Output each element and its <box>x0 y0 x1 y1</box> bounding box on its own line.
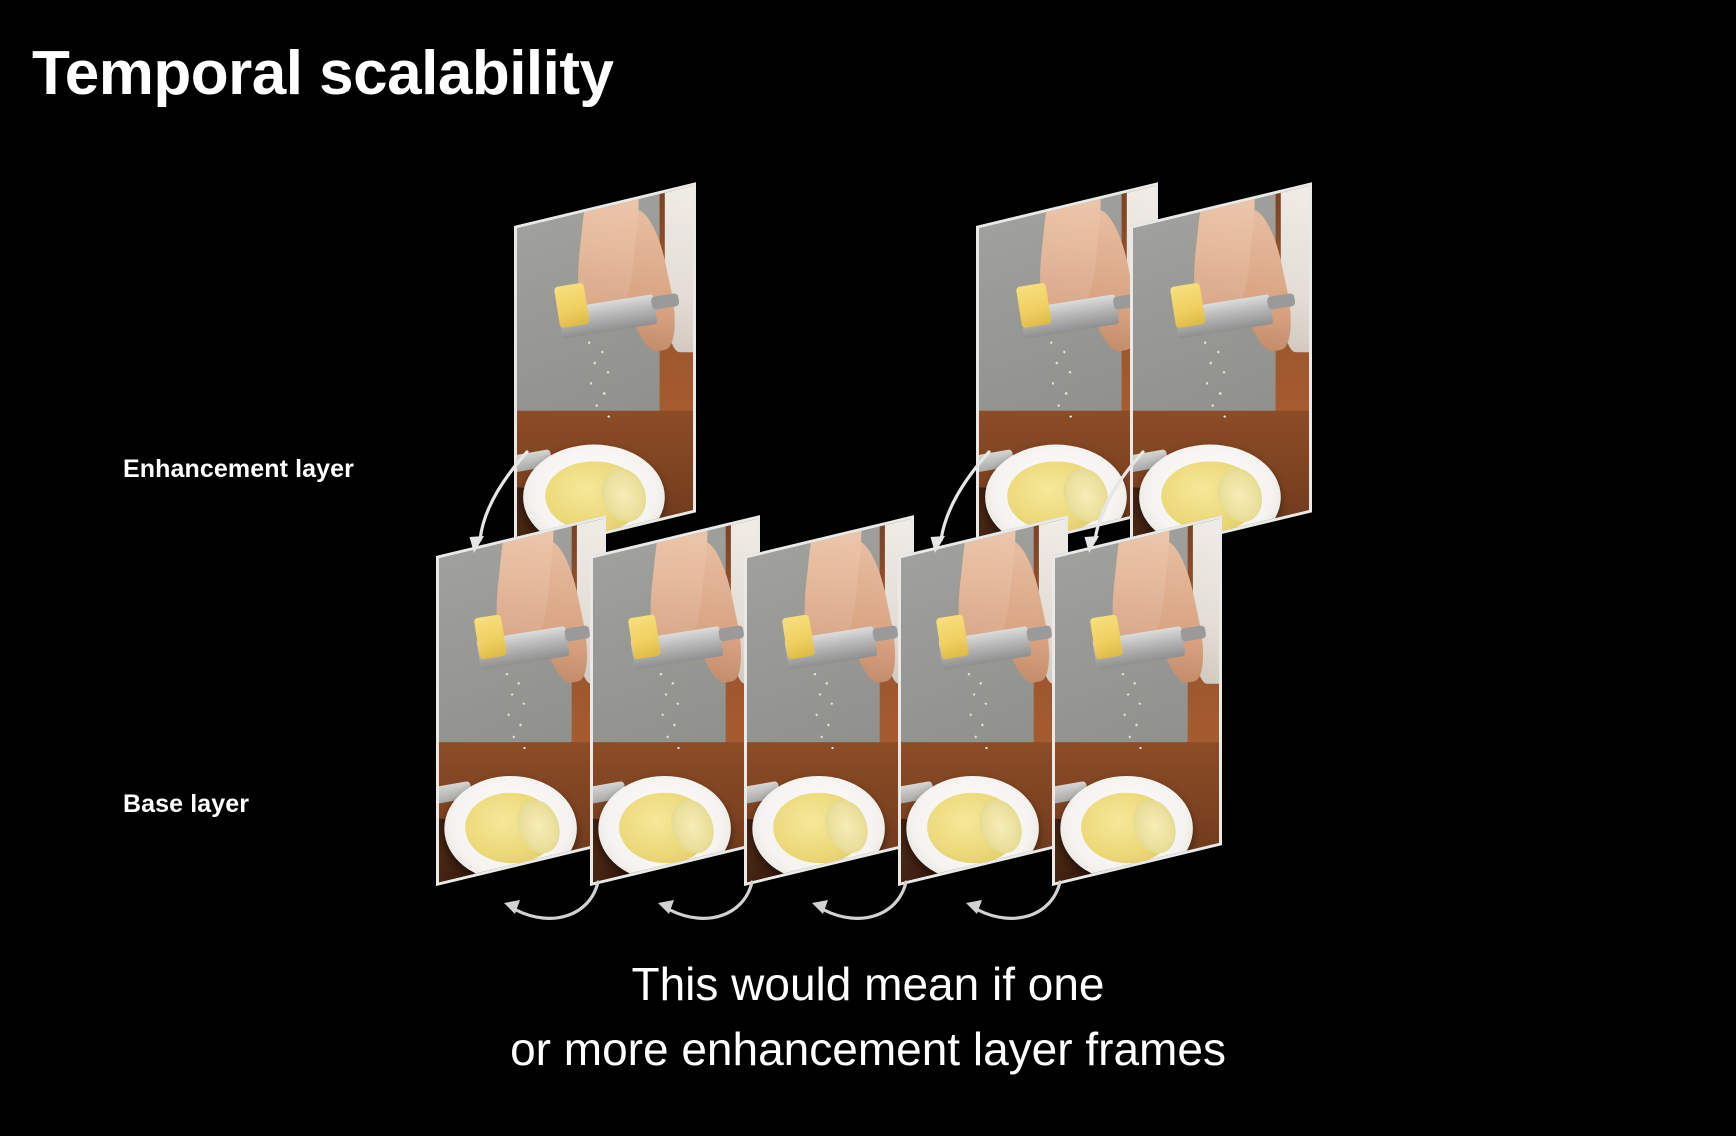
photo-table <box>1130 411 1312 556</box>
photo-second-hand <box>609 206 684 356</box>
photo-table-object <box>744 819 782 886</box>
base-frame-4 <box>898 515 1068 886</box>
photo-grater <box>1093 626 1186 669</box>
photo-hand <box>1189 182 1263 329</box>
frame-photo <box>590 515 760 886</box>
photo-grater <box>785 626 878 669</box>
photo-grater <box>477 626 570 669</box>
base-arrow-3 <box>812 882 906 918</box>
photo-table <box>436 743 606 886</box>
photo-wood-panel <box>572 515 606 759</box>
photo-pasta <box>465 793 555 862</box>
photo-fork <box>1130 449 1169 475</box>
photo-wall <box>976 182 1158 419</box>
caption-block: This would mean if one or more enhanceme… <box>0 952 1736 1083</box>
photo-grater <box>631 626 724 669</box>
photo-fork <box>976 449 1015 475</box>
photo-hand <box>1035 182 1109 329</box>
photo-lemon-whole <box>1303 512 1312 556</box>
enhancement-frame-3 <box>1130 182 1312 556</box>
photo-table <box>514 411 696 556</box>
base-frame-1 <box>436 515 606 886</box>
photo-table-object <box>1052 819 1090 886</box>
photo-table-object <box>436 819 474 886</box>
photo-lemon-slice <box>1126 794 1182 859</box>
base-arrow-1 <box>504 882 598 918</box>
photo-wall <box>1130 182 1312 419</box>
photo-cheese-block <box>781 614 815 660</box>
photo-lemon-whole <box>1149 512 1158 556</box>
photo-table <box>590 743 760 886</box>
photo-table <box>744 743 914 886</box>
photo-wood-panel <box>1122 182 1158 428</box>
photo-wall <box>1052 515 1222 751</box>
photo-plate <box>985 445 1127 550</box>
photo-plate <box>906 776 1038 881</box>
photo-wood-panel <box>1276 182 1312 428</box>
frame-photo <box>436 515 606 886</box>
base-frame-3 <box>744 515 914 886</box>
photo-wall <box>436 515 606 751</box>
base-arrow-4 <box>966 882 1060 918</box>
frame-photo <box>744 515 914 886</box>
photo-table-object <box>590 819 628 886</box>
photo-fork <box>898 781 935 806</box>
photo-table-object <box>898 819 936 886</box>
photo-hand <box>490 515 560 660</box>
enhancement-frame-1 <box>514 182 696 556</box>
photo-shirt <box>664 182 696 352</box>
photo-pasta <box>1007 462 1103 531</box>
photo-grater <box>558 294 658 338</box>
photo-shirt <box>1192 515 1222 684</box>
photo-second-hand <box>524 538 595 687</box>
frame-photo <box>898 515 1068 886</box>
photo-pasta <box>1081 793 1171 862</box>
photo-fork <box>744 781 781 806</box>
photo-fork <box>590 781 627 806</box>
photo-plate <box>444 776 576 881</box>
photo-cheese-block <box>627 614 661 660</box>
enhancement-arrow-2 <box>931 452 990 553</box>
photo-grater <box>1174 294 1274 338</box>
photo-fork <box>436 781 473 806</box>
frame-photo <box>514 182 696 556</box>
photo-plate <box>1060 776 1192 881</box>
photo-pasta <box>1161 462 1257 531</box>
base-frame-5 <box>1052 515 1222 886</box>
photo-wall <box>898 515 1068 751</box>
photo-wood-panel <box>660 182 696 428</box>
enhancement-arrow-3 <box>1085 452 1144 553</box>
photo-shirt <box>1038 515 1068 684</box>
photo-cheese-block <box>1016 283 1052 329</box>
photo-table <box>976 411 1158 556</box>
base-frame-2 <box>590 515 760 886</box>
photo-fork <box>1052 781 1089 806</box>
photo-lemon-slice <box>1210 463 1269 529</box>
photo-hand <box>644 515 714 660</box>
photo-second-hand <box>1071 206 1146 356</box>
photo-cheese-block <box>935 614 969 660</box>
enhancement-arrow-1 <box>470 452 528 553</box>
photo-cheese-block <box>473 614 507 660</box>
photo-cheese-crumbs <box>582 335 619 428</box>
photo-cheese-crumbs <box>1116 667 1150 760</box>
photo-shirt <box>576 515 606 684</box>
photo-shirt <box>730 515 760 684</box>
photo-lemon-slice <box>664 794 720 859</box>
caption-line-1: This would mean if one <box>0 952 1736 1017</box>
photo-pasta <box>619 793 709 862</box>
photo-second-hand <box>1140 538 1211 687</box>
photo-cheese-crumbs <box>808 667 842 760</box>
photo-lemon-slice <box>1056 463 1115 529</box>
photo-wood-panel <box>726 515 760 759</box>
base-layer-label: Base layer <box>123 790 249 819</box>
photo-hand <box>573 182 647 329</box>
photo-cheese-crumbs <box>962 667 996 760</box>
frame-photo <box>1052 515 1222 886</box>
photo-wall <box>514 182 696 419</box>
photo-lemon-slice <box>818 794 874 859</box>
photo-second-hand <box>832 538 903 687</box>
photo-lemon-whole <box>598 844 606 886</box>
photo-cheese-block <box>1089 614 1123 660</box>
photo-lemon-slice <box>972 794 1028 859</box>
photo-lemon-whole <box>687 512 696 556</box>
photo-cheese-block <box>1170 283 1206 329</box>
photo-wood-panel <box>880 515 914 759</box>
photo-lemon-whole <box>906 844 914 886</box>
photo-pasta <box>545 462 641 531</box>
photo-second-hand <box>986 538 1057 687</box>
photo-plate <box>523 445 665 550</box>
photo-shirt <box>1280 182 1312 352</box>
photo-cheese-block <box>554 283 590 329</box>
photo-cheese-crumbs <box>654 667 688 760</box>
photo-cheese-crumbs <box>1198 335 1235 428</box>
photo-wall <box>590 515 760 751</box>
photo-hand <box>798 515 868 660</box>
photo-pasta <box>927 793 1017 862</box>
frame-photo <box>976 182 1158 556</box>
photo-wood-panel <box>1188 515 1222 759</box>
photo-second-hand <box>678 538 749 687</box>
photo-grater <box>939 626 1032 669</box>
photo-cheese-crumbs <box>1044 335 1081 428</box>
photo-shirt <box>884 515 914 684</box>
photo-wood-panel <box>1034 515 1068 759</box>
photo-hand <box>952 515 1022 660</box>
photo-lemon-slice <box>594 463 653 529</box>
enhancement-frame-2 <box>976 182 1158 556</box>
enhancement-layer-label: Enhancement layer <box>123 455 354 484</box>
photo-shirt <box>1126 182 1158 352</box>
caption-line-2: or more enhancement layer frames <box>0 1017 1736 1082</box>
photo-plate <box>1139 445 1281 550</box>
photo-grater <box>1020 294 1120 338</box>
photo-table-object <box>976 487 1017 556</box>
photo-plate <box>598 776 730 881</box>
photo-fork <box>514 449 553 475</box>
photo-plate <box>752 776 884 881</box>
photo-pasta <box>773 793 863 862</box>
photo-wall <box>744 515 914 751</box>
base-arrow-2 <box>658 882 752 918</box>
page-title: Temporal scalability <box>32 40 614 108</box>
photo-table <box>898 743 1068 886</box>
photo-table-object <box>514 487 555 556</box>
photo-lemon-whole <box>1214 844 1222 886</box>
photo-lemon-whole <box>1060 844 1068 886</box>
slide-canvas: Temporal scalability Enhancement layer B… <box>0 0 1736 1136</box>
photo-table <box>1052 743 1222 886</box>
photo-second-hand <box>1225 206 1300 356</box>
photo-cheese-crumbs <box>500 667 534 760</box>
photo-hand <box>1106 515 1176 660</box>
photo-lemon-slice <box>510 794 566 859</box>
frame-photo <box>1130 182 1312 556</box>
photo-lemon-whole <box>752 844 760 886</box>
photo-table-object <box>1130 487 1171 556</box>
